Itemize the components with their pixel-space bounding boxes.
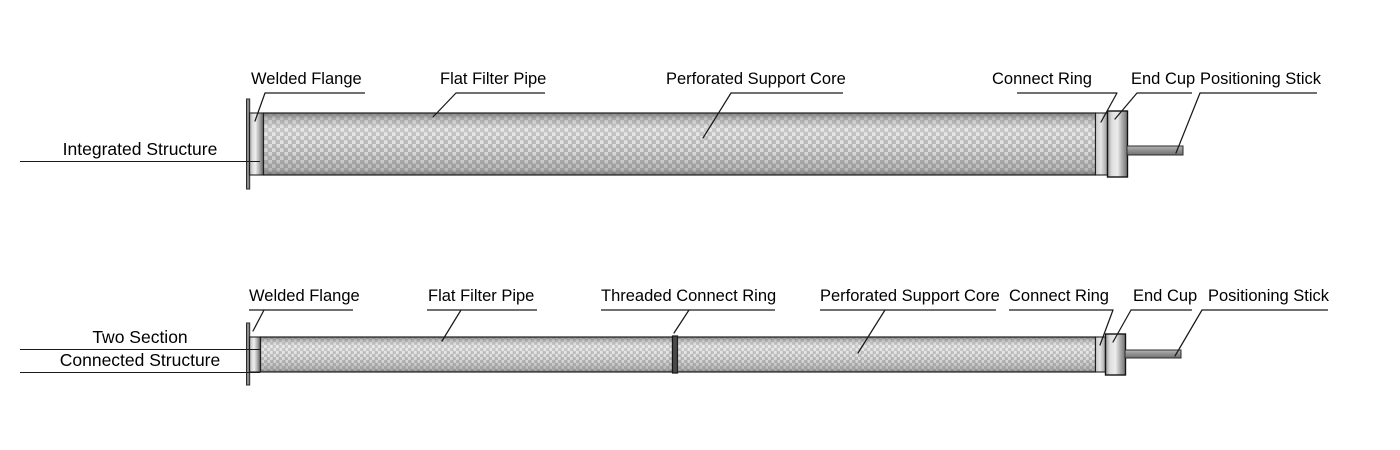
diagram-canvas: Integrated Structure Two Section Connect… [0,0,1400,450]
leader-threaded-connect-ring [674,310,689,333]
row-title-line: Connected Structure [20,350,260,373]
positioning-stick-part-2 [1125,350,1181,358]
label-perforated-support-core: Perforated Support Core [666,70,846,89]
label-connect-ring-2: Connect Ring [1009,287,1109,306]
label-threaded-connect-ring: Threaded Connect Ring [601,287,776,306]
threaded-connect-ring-part [673,336,678,373]
label-flat-filter-pipe: Flat Filter Pipe [440,70,546,89]
row-title-line: Integrated Structure [20,139,260,162]
row-title-integrated-structure: Integrated Structure [20,139,260,162]
positioning-stick-part [1127,146,1183,155]
label-flat-filter-pipe-2: Flat Filter Pipe [428,287,534,306]
flat-filter-pipe-body [264,113,1096,175]
filter-section-one [261,337,673,372]
label-end-cup: End Cup [1131,70,1195,89]
label-positioning-stick: Positioning Stick [1200,70,1321,89]
filter-section-two [678,337,1096,372]
leader-flat-filter-pipe-2 [442,310,461,341]
label-positioning-stick-2: Positioning Stick [1208,287,1329,306]
end-cup-part-2 [1106,334,1126,375]
two-section-structure-assembly [247,310,1329,385]
label-welded-flange: Welded Flange [251,70,362,89]
leader-positioning-stick-2 [1175,310,1202,356]
label-perforated-support-core-2: Perforated Support Core [820,287,1000,306]
integrated-structure-assembly [247,93,1318,189]
filter-element-diagram [0,0,1400,450]
label-end-cup-2: End Cup [1133,287,1197,306]
label-connect-ring: Connect Ring [992,70,1092,89]
row-title-line: Two Section [20,327,260,350]
row-title-two-section-connected-structure: Two Section Connected Structure [20,327,260,373]
leader-positioning-stick [1176,93,1200,153]
label-welded-flange-2: Welded Flange [249,287,360,306]
end-cup-part [1108,111,1128,177]
